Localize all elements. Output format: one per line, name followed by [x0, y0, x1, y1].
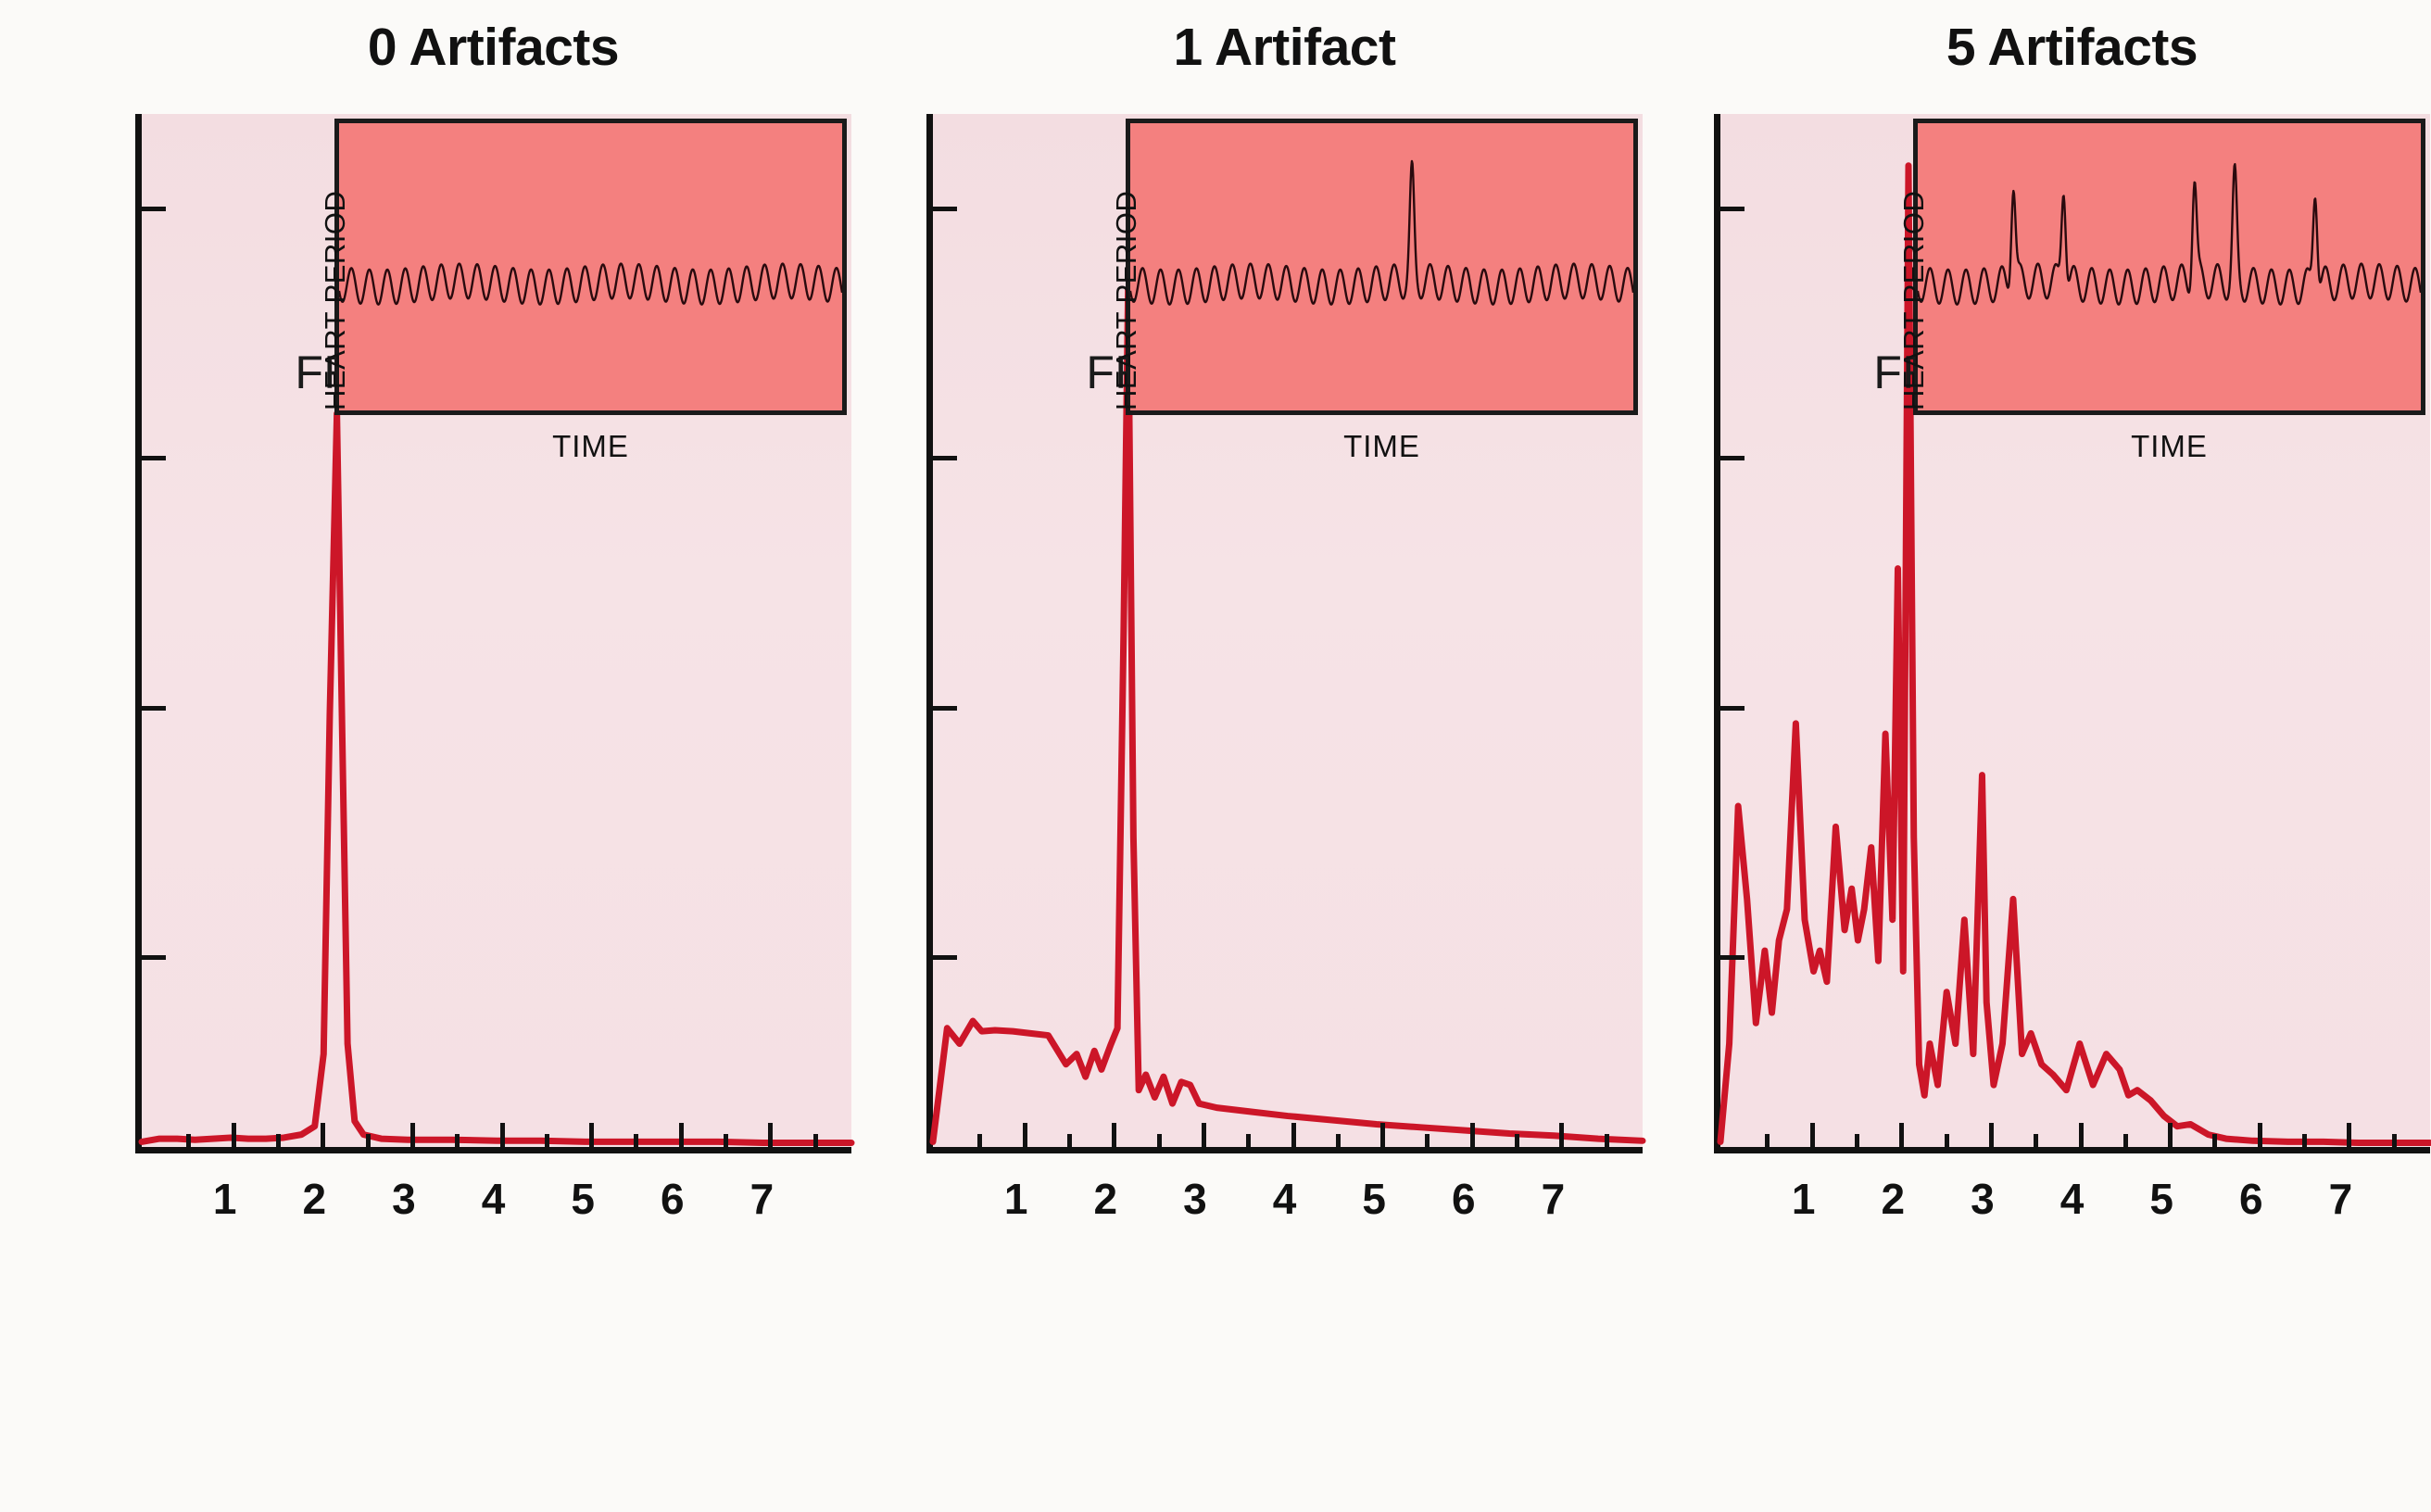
- y-tick: [1720, 955, 1745, 960]
- x-tick-label: 2: [302, 1174, 326, 1224]
- x-tick-label: 5: [2149, 1174, 2173, 1224]
- x-tick-major: [232, 1123, 236, 1147]
- x-tick-minor: [977, 1134, 982, 1147]
- y-tick: [933, 706, 957, 711]
- x-tick-minor: [186, 1134, 191, 1147]
- panel-title: 0 Artifacts: [135, 17, 851, 78]
- x-tick-major: [2258, 1123, 2262, 1147]
- y-tick: [1720, 706, 1745, 711]
- panel-title: 5 Artifacts: [1714, 17, 2430, 78]
- x-tick-label: 7: [1542, 1174, 1566, 1224]
- x-tick-label: 5: [571, 1174, 595, 1224]
- x-tick-major: [1023, 1123, 1027, 1147]
- panel-1-artifact: 1 Artifact 1234567 FREQUENCY (Hz) HEART …: [926, 114, 1643, 1153]
- inset-waveform-path: [1130, 161, 1633, 305]
- x-tick-minor: [1336, 1134, 1341, 1147]
- spectrum-path: [933, 290, 1643, 1142]
- y-tick: [933, 456, 957, 460]
- y-tick: [933, 207, 957, 211]
- x-tick-label: 1: [213, 1174, 237, 1224]
- x-tick-minor: [1855, 1134, 1859, 1147]
- x-tick-minor: [1067, 1134, 1072, 1147]
- x-tick-minor: [545, 1134, 549, 1147]
- x-tick-major: [321, 1123, 325, 1147]
- x-tick-major: [2168, 1123, 2173, 1147]
- x-tick-label: 2: [1093, 1174, 1117, 1224]
- x-tick-label: 2: [1881, 1174, 1905, 1224]
- inset-plot: [1126, 119, 1638, 415]
- x-tick-label: 4: [1273, 1174, 1297, 1224]
- panel-title: 1 Artifact: [926, 17, 1643, 78]
- spectrum-path: [142, 413, 851, 1142]
- inset-x-axis-label: TIME: [1913, 429, 2425, 464]
- x-tick-label: 3: [1971, 1174, 1995, 1224]
- x-tick-major: [589, 1123, 594, 1147]
- x-tick-major: [1810, 1123, 1815, 1147]
- y-tick: [142, 955, 166, 960]
- x-tick-label: 6: [1452, 1174, 1476, 1224]
- x-tick-label: 1: [1004, 1174, 1028, 1224]
- x-tick-minor: [276, 1134, 281, 1147]
- x-tick-minor: [813, 1134, 818, 1147]
- y-tick: [142, 456, 166, 460]
- x-tick-major: [2347, 1123, 2351, 1147]
- panel-0-artifacts: 0 Artifacts 1234567 FREQUENCY (Hz) HEART…: [135, 114, 851, 1153]
- x-tick-labels: 1234567: [135, 1153, 851, 1228]
- x-tick-minor: [2034, 1134, 2038, 1147]
- panel-5-artifacts: 5 Artifacts 1234567 FREQUENCY (Hz) HEART…: [1714, 114, 2430, 1153]
- inset-y-axis-label: HEART PERIOD: [1897, 191, 1931, 410]
- x-tick-major: [679, 1123, 684, 1147]
- inset-plot: [334, 119, 847, 415]
- inset-waveform-path: [1918, 164, 2421, 304]
- x-tick-label: 4: [2060, 1174, 2085, 1224]
- x-tick-label: 3: [392, 1174, 416, 1224]
- inset-x-axis-label: TIME: [334, 429, 847, 464]
- x-tick-minor: [1246, 1134, 1251, 1147]
- x-tick-minor: [1425, 1134, 1430, 1147]
- heart-period-waveform: [1918, 123, 2421, 410]
- x-tick-label: 5: [1362, 1174, 1386, 1224]
- x-tick-minor: [455, 1134, 460, 1147]
- x-tick-minor: [1605, 1134, 1609, 1147]
- heart-period-waveform: [339, 123, 842, 410]
- x-tick-minor: [724, 1134, 728, 1147]
- y-tick: [933, 955, 957, 960]
- x-tick-major: [1202, 1123, 1206, 1147]
- x-tick-major: [1559, 1123, 1564, 1147]
- x-tick-minor: [366, 1134, 371, 1147]
- x-tick-minor: [634, 1134, 638, 1147]
- x-tick-label: 1: [1792, 1174, 1816, 1224]
- x-tick-major: [1291, 1123, 1296, 1147]
- inset-x-axis-label: TIME: [1126, 429, 1638, 464]
- inset-y-axis-label: HEART PERIOD: [1110, 191, 1143, 410]
- inset-y-axis-label: HEART PERIOD: [319, 191, 352, 410]
- x-tick-label: 7: [750, 1174, 775, 1224]
- heart-period-waveform: [1130, 123, 1633, 410]
- x-tick-major: [1380, 1123, 1385, 1147]
- inset-plot: [1913, 119, 2425, 415]
- x-tick-major: [2079, 1123, 2084, 1147]
- x-tick-minor: [2302, 1134, 2307, 1147]
- x-tick-label: 7: [2329, 1174, 2353, 1224]
- x-tick-minor: [2212, 1134, 2217, 1147]
- x-tick-labels: 1234567: [1714, 1153, 2430, 1228]
- x-tick-minor: [1157, 1134, 1162, 1147]
- x-tick-minor: [2392, 1134, 2397, 1147]
- y-tick: [1720, 456, 1745, 460]
- x-tick-minor: [1765, 1134, 1770, 1147]
- x-tick-label: 4: [482, 1174, 506, 1224]
- x-tick-label: 3: [1183, 1174, 1207, 1224]
- x-tick-major: [1112, 1123, 1116, 1147]
- x-tick-major: [500, 1123, 505, 1147]
- x-tick-minor: [1515, 1134, 1519, 1147]
- x-tick-label: 6: [661, 1174, 685, 1224]
- x-tick-major: [768, 1123, 773, 1147]
- y-tick: [1720, 207, 1745, 211]
- inset-waveform-path: [339, 264, 842, 305]
- y-tick: [142, 706, 166, 711]
- x-tick-major: [410, 1123, 415, 1147]
- x-tick-minor: [1945, 1134, 1949, 1147]
- x-tick-labels: 1234567: [926, 1153, 1643, 1228]
- figure-root: SPECTRAL DENSITY 0 Artifacts 1234567 FRE…: [0, 0, 2431, 1512]
- x-tick-major: [1989, 1123, 1994, 1147]
- x-tick-major: [1899, 1123, 1904, 1147]
- y-tick: [142, 207, 166, 211]
- x-tick-minor: [2123, 1134, 2128, 1147]
- x-tick-label: 6: [2239, 1174, 2263, 1224]
- x-tick-major: [1470, 1123, 1475, 1147]
